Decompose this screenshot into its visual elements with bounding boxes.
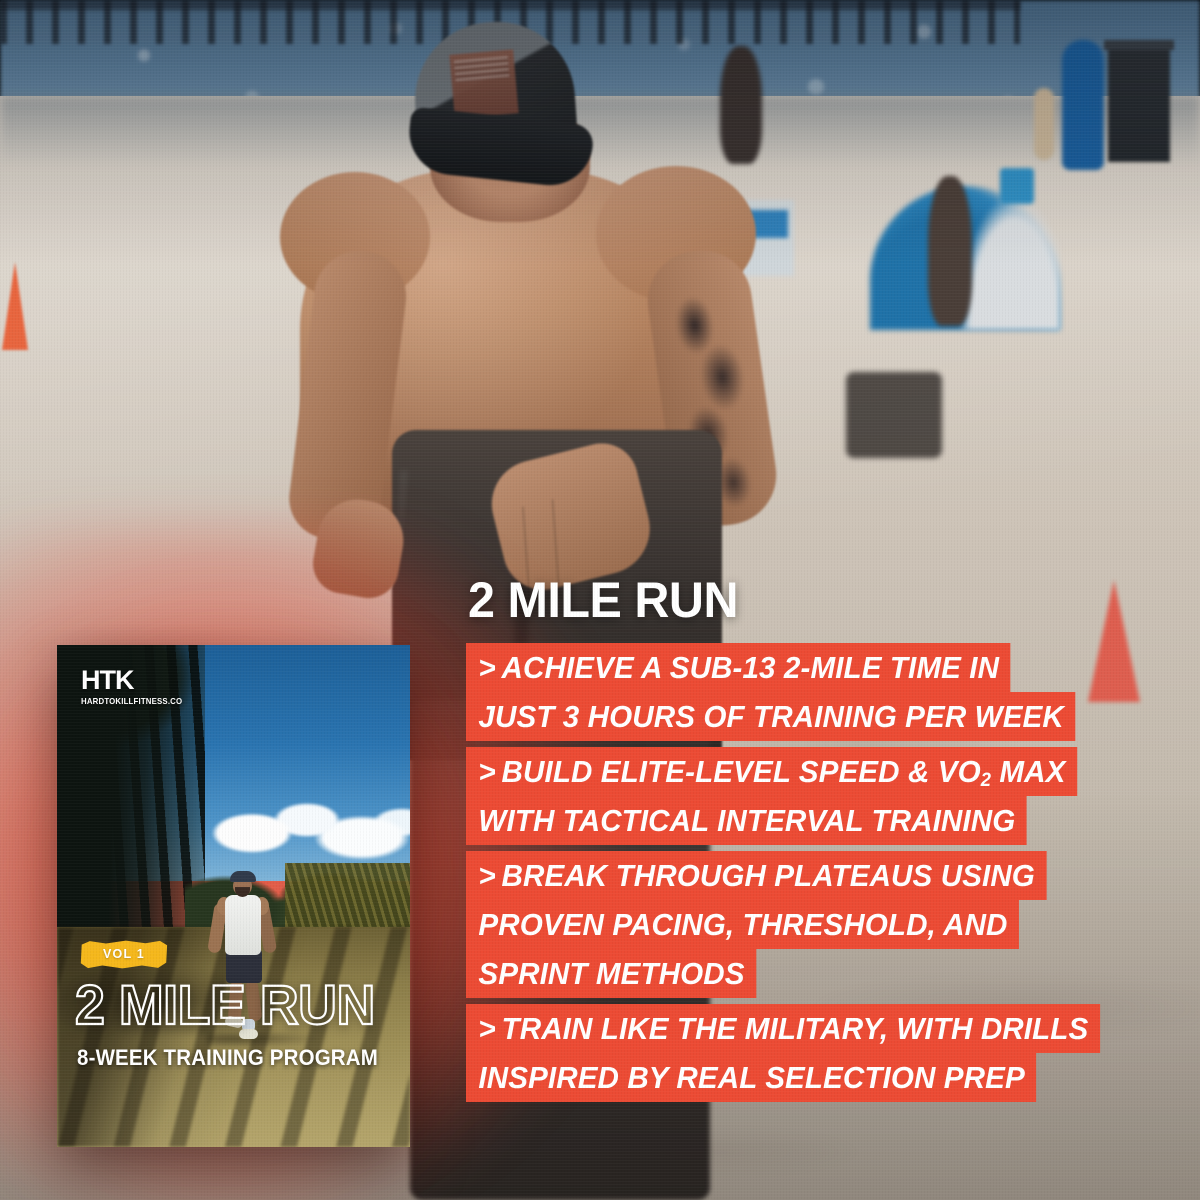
brand-logo-url: HARDTOKILLFITNESS.CO bbox=[81, 696, 182, 706]
cover-title: 2 MILE RUN bbox=[75, 977, 375, 1033]
benefit-bullet: >ACHIEVE A SUB-13 2-MILE TIME INJUST 3 H… bbox=[466, 643, 1196, 741]
benefit-bullet-line: JUST 3 HOURS OF TRAINING PER WEEK bbox=[466, 692, 1075, 741]
chevron-right-icon: > bbox=[478, 652, 495, 683]
benefit-bullet-line: PROVEN PACING, THRESHOLD, AND bbox=[466, 900, 1019, 949]
benefit-bullet: >TRAIN LIKE THE MILITARY, WITH DRILLSINS… bbox=[466, 1004, 1196, 1102]
cover-runner-cap bbox=[230, 871, 256, 882]
benefit-bullet: >BUILD ELITE-LEVEL SPEED & VO2 MAXWITH T… bbox=[466, 747, 1196, 845]
brand-logo-mark: HTK bbox=[81, 667, 191, 694]
benefit-bullet-line: >TRAIN LIKE THE MILITARY, WITH DRILLS bbox=[466, 1004, 1100, 1053]
volume-badge: VOL 1 bbox=[79, 940, 169, 969]
benefit-bullet-line: WITH TACTICAL INTERVAL TRAINING bbox=[466, 796, 1027, 845]
benefit-bullet-line: >BUILD ELITE-LEVEL SPEED & VO2 MAX bbox=[466, 747, 1077, 796]
product-cover[interactable]: HTK HARDTOKILLFITNESS.CO VOL 1 2 MILE RU… bbox=[57, 645, 410, 1147]
chevron-right-icon: > bbox=[478, 1013, 495, 1044]
cover-subtitle: 8-WEEK TRAINING PROGRAM bbox=[77, 1045, 378, 1071]
chevron-right-icon: > bbox=[478, 756, 495, 787]
page-title: 2 MILE RUN bbox=[468, 575, 1174, 625]
benefit-bullet-line: >ACHIEVE A SUB-13 2-MILE TIME IN bbox=[466, 643, 1011, 692]
benefit-bullet-line: >BREAK THROUGH PLATEAUS USING bbox=[466, 851, 1046, 900]
benefit-bullet: >BREAK THROUGH PLATEAUS USINGPROVEN PACI… bbox=[466, 851, 1196, 998]
benefit-bullet-line: SPRINT METHODS bbox=[466, 949, 756, 998]
cover-runner-tank-top bbox=[225, 895, 261, 955]
copy-block: 2 MILE RUN >ACHIEVE A SUB-13 2-MILE TIME… bbox=[466, 575, 1196, 1108]
ad-creative: HTK HARDTOKILLFITNESS.CO VOL 1 2 MILE RU… bbox=[0, 0, 1200, 1200]
chevron-right-icon: > bbox=[478, 860, 495, 891]
brand-logo: HTK HARDTOKILLFITNESS.CO bbox=[81, 667, 191, 706]
benefit-bullet-line: INSPIRED BY REAL SELECTION PREP bbox=[466, 1053, 1036, 1102]
benefit-bullet-list: >ACHIEVE A SUB-13 2-MILE TIME INJUST 3 H… bbox=[466, 643, 1196, 1102]
